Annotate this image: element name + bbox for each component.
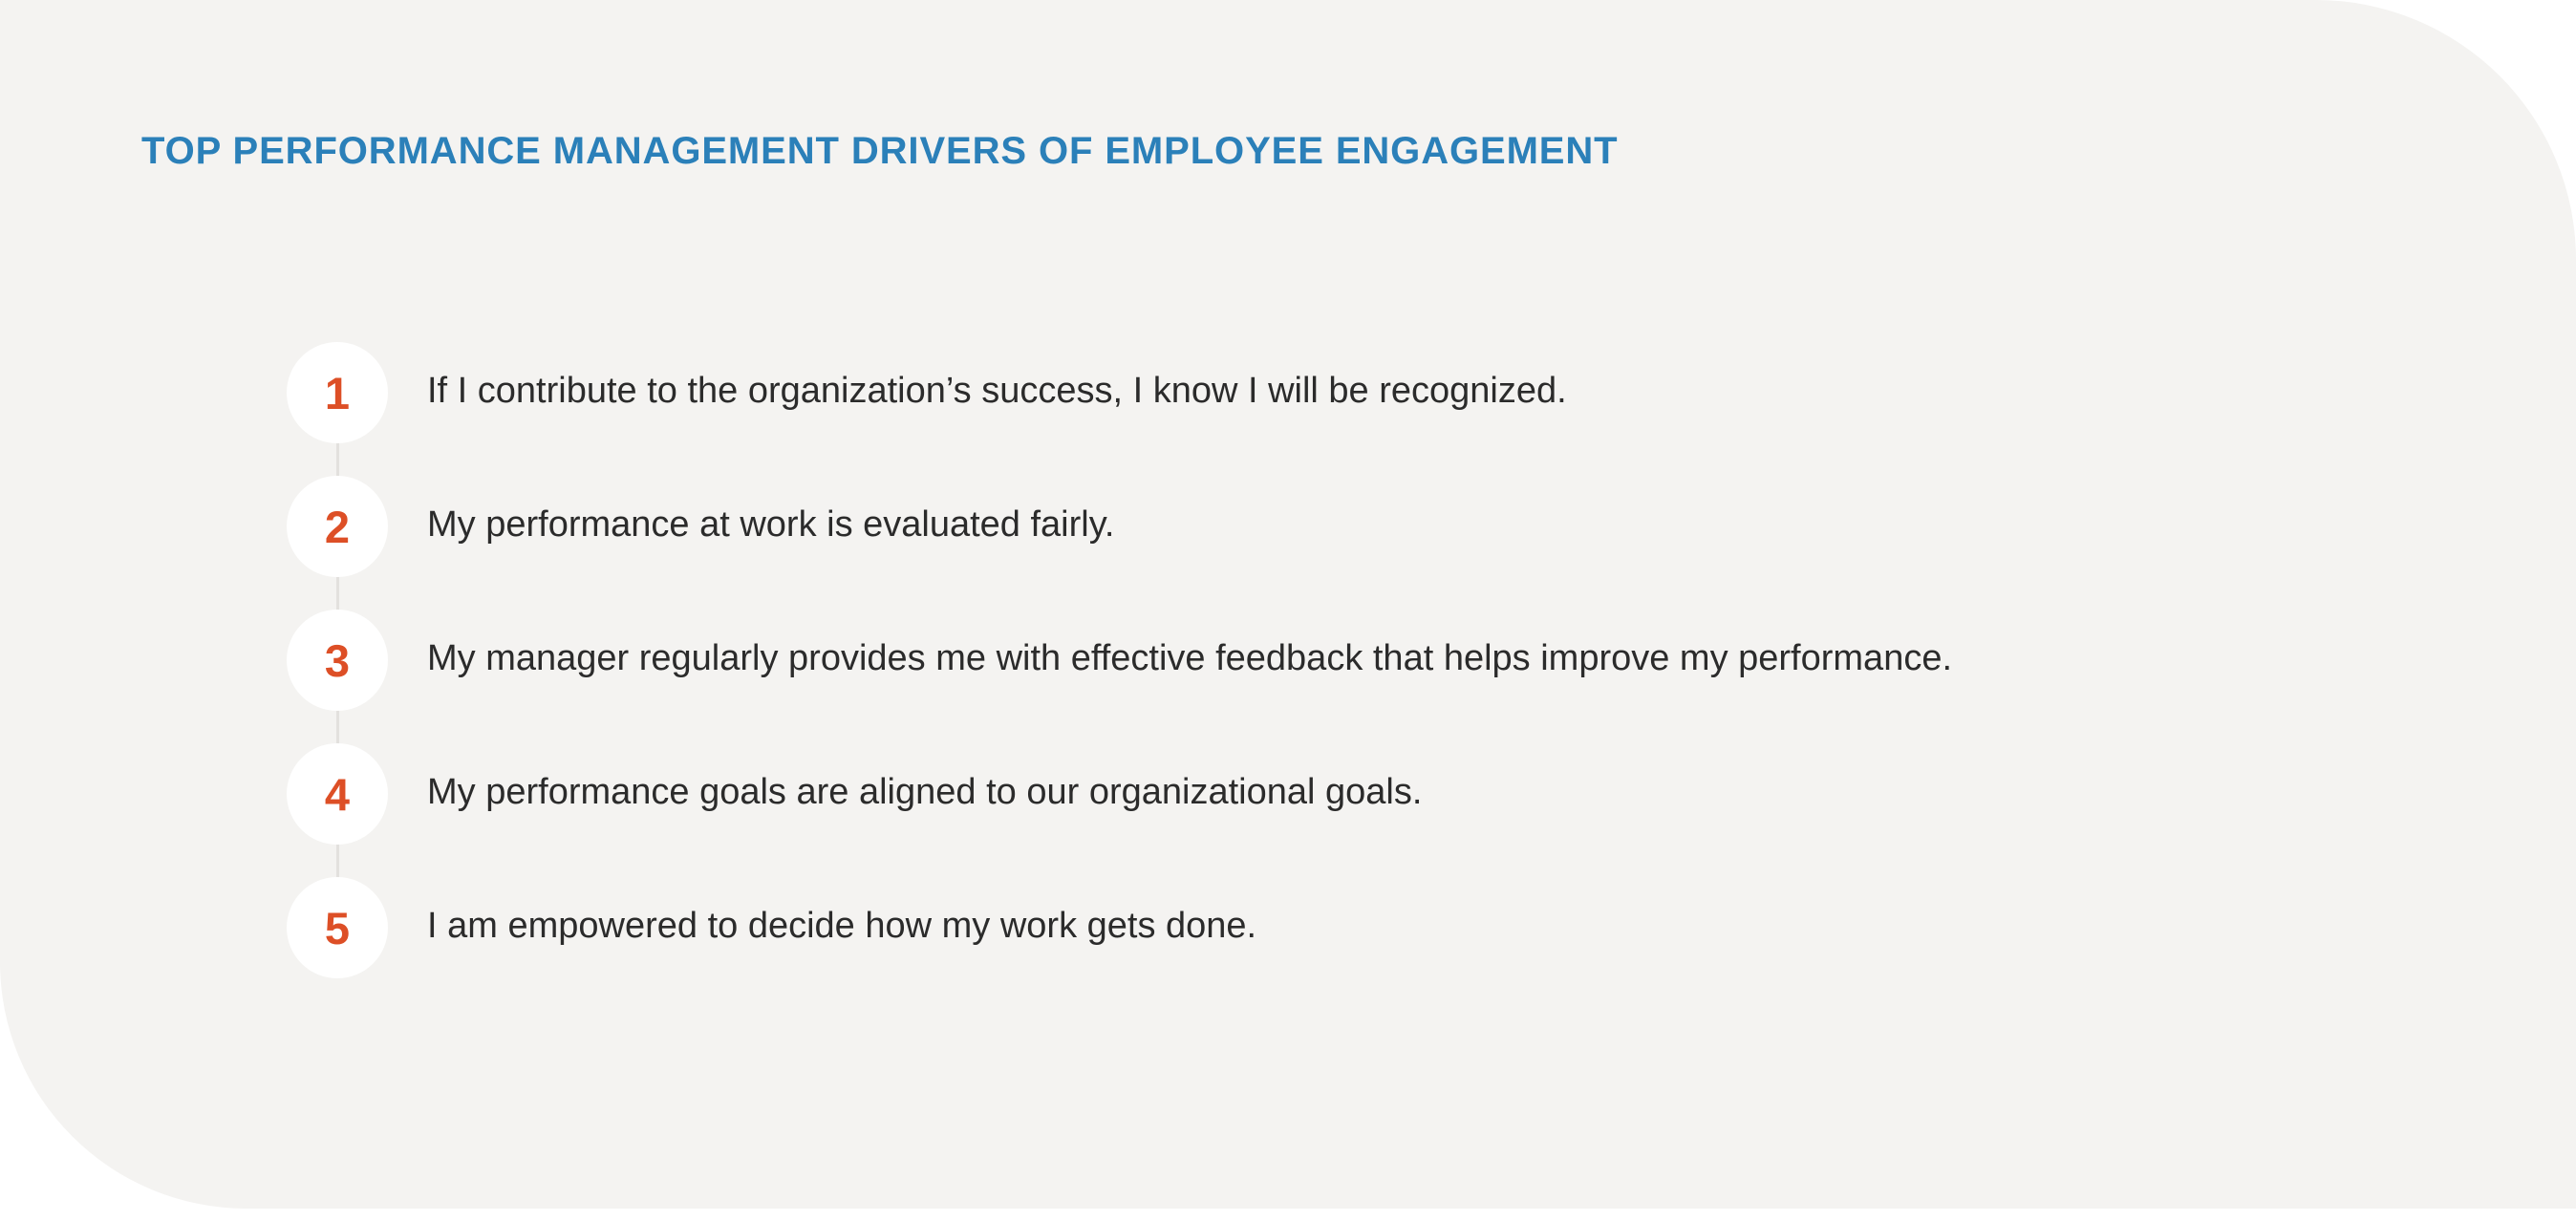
driver-rank-badge: 2 bbox=[287, 476, 388, 577]
driver-statement: I am empowered to decide how my work get… bbox=[388, 877, 2446, 950]
list-item: 4 My performance goals are aligned to ou… bbox=[287, 743, 2446, 877]
driver-rank-badge: 1 bbox=[287, 342, 388, 443]
driver-rank-badge: 3 bbox=[287, 610, 388, 711]
driver-rank-badge: 5 bbox=[287, 877, 388, 978]
connector-line bbox=[336, 710, 339, 744]
drivers-card: Top Performance Management Drivers of Em… bbox=[0, 0, 2576, 1209]
driver-statement: My performance goals are aligned to our … bbox=[388, 743, 2446, 816]
driver-statement: My performance at work is evaluated fair… bbox=[388, 476, 2446, 548]
page-title: Top Performance Management Drivers of Em… bbox=[141, 130, 1619, 172]
page-root: Top Performance Management Drivers of Em… bbox=[0, 0, 2576, 1221]
list-item: 1 If I contribute to the organization’s … bbox=[287, 342, 2446, 476]
drivers-list: 1 If I contribute to the organization’s … bbox=[287, 342, 2446, 987]
connector-line bbox=[336, 442, 339, 477]
list-item: 3 My manager regularly provides me with … bbox=[287, 610, 2446, 743]
list-item: 5 I am empowered to decide how my work g… bbox=[287, 877, 2446, 987]
list-item: 2 My performance at work is evaluated fa… bbox=[287, 476, 2446, 610]
driver-statement: My manager regularly provides me with ef… bbox=[388, 610, 2446, 682]
driver-rank-badge: 4 bbox=[287, 743, 388, 845]
driver-statement: If I contribute to the organization’s su… bbox=[388, 342, 2446, 415]
connector-line bbox=[336, 576, 339, 610]
connector-line bbox=[336, 844, 339, 878]
